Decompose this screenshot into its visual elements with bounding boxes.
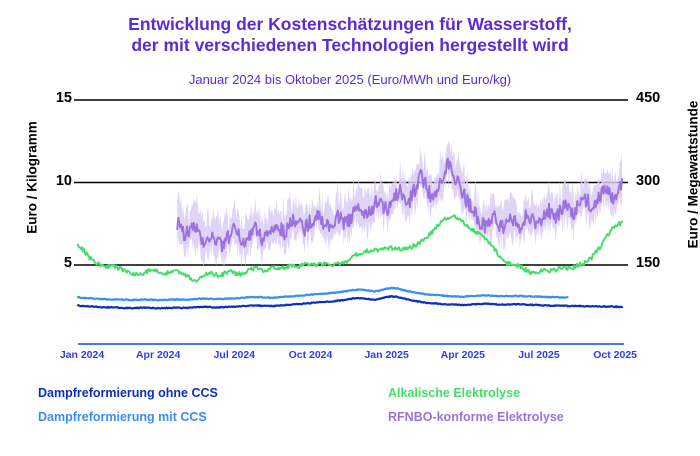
legend-item-alkaline: Alkalische Elektrolyse <box>388 386 520 400</box>
x-tick-5: Apr 2025 <box>423 349 503 361</box>
y-tick-right-300: 300 <box>636 173 660 189</box>
y-tick-left-15: 15 <box>56 90 72 106</box>
legend-item-steam-no-ccs: Dampfreformierung ohne CCS <box>38 386 218 400</box>
x-tick-6: Jul 2025 <box>499 349 579 361</box>
x-tick-0: Jan 2024 <box>42 349 122 361</box>
y-tick-right-150: 150 <box>636 255 660 271</box>
y-tick-left-5: 5 <box>64 255 72 271</box>
y-tick-left-10: 10 <box>56 173 72 189</box>
x-tick-7: Oct 2025 <box>575 349 655 361</box>
x-tick-1: Apr 2024 <box>118 349 198 361</box>
legend-item-rfnbo: RFNBO-konforme Elektrolyse <box>388 410 564 424</box>
chart-legend: Dampfreformierung ohne CCS Dampfreformie… <box>0 386 700 436</box>
chart-root: Entwicklung der Kostenschätzungen für Wa… <box>0 0 700 456</box>
x-tick-2: Jul 2024 <box>194 349 274 361</box>
y-tick-right-450: 450 <box>636 90 660 106</box>
x-tick-3: Oct 2024 <box>270 349 350 361</box>
legend-item-steam-with-ccs: Dampfreformierung mit CCS <box>38 410 207 424</box>
x-tick-4: Jan 2025 <box>347 349 427 361</box>
